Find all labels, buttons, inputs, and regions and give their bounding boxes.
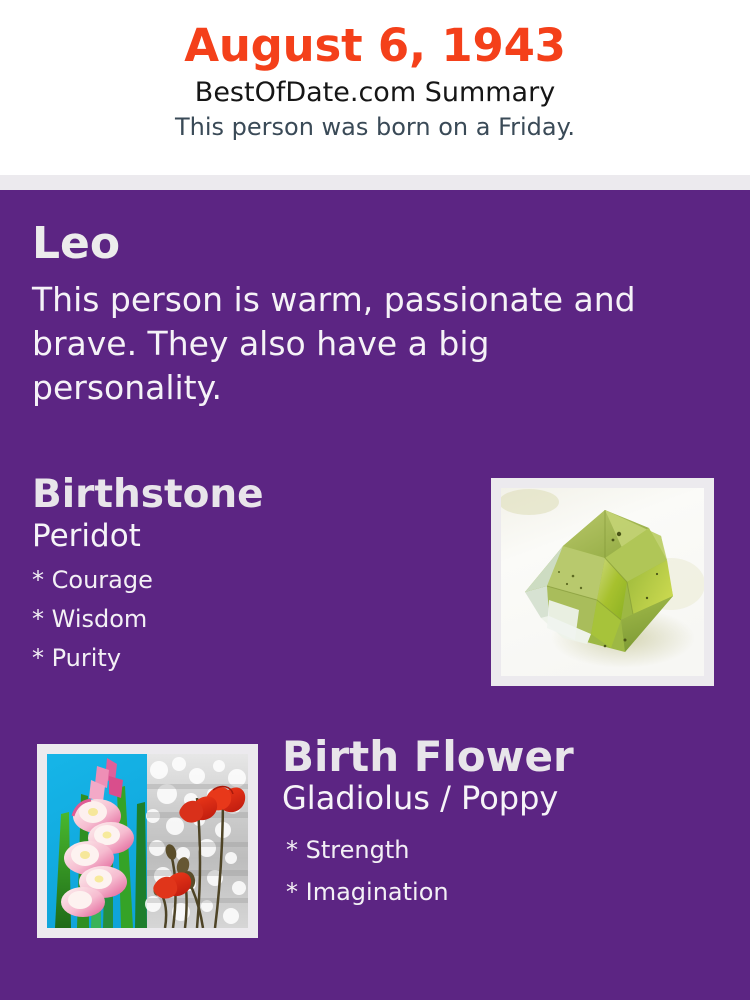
birthstone-image-frame: [491, 478, 714, 686]
gladiolus-poppy-icon: [47, 754, 248, 928]
zodiac-description: This person is warm, passionate and brav…: [32, 266, 682, 410]
zodiac-section: Leo This person is warm, passionate and …: [32, 222, 692, 410]
birth-flower-trait-list: * Strength * Imagination: [282, 816, 732, 913]
birthstone-name: Peridot: [32, 516, 462, 553]
birth-flower-section: Birth Flower Gladiolus / Poppy * Strengt…: [282, 735, 732, 913]
list-item: * Courage: [32, 561, 462, 600]
list-item: * Purity: [32, 639, 462, 678]
day-of-week-note: This person was born on a Friday.: [0, 108, 750, 142]
birth-flower-name: Gladiolus / Poppy: [282, 779, 732, 816]
page-title: August 6, 1943: [0, 0, 750, 71]
date-summary-card: August 6, 1943 BestOfDate.com Summary Th…: [0, 0, 750, 1000]
birthstone-image: [501, 488, 704, 676]
list-item: * Strength: [286, 830, 732, 871]
birthstone-title: Birthstone: [32, 475, 462, 516]
list-item: * Wisdom: [32, 600, 462, 639]
site-name: BestOfDate.com Summary: [0, 71, 750, 108]
birthstone-section: Birthstone Peridot * Courage * Wisdom * …: [32, 475, 462, 678]
birth-flower-image-frame: [37, 744, 258, 938]
card-header: August 6, 1943 BestOfDate.com Summary Th…: [0, 0, 750, 175]
birth-flower-title: Birth Flower: [282, 735, 732, 779]
list-item: * Imagination: [286, 872, 732, 913]
peridot-gem-icon: [501, 488, 704, 676]
zodiac-sign-name: Leo: [32, 222, 692, 266]
birth-flower-image: [47, 754, 248, 928]
header-divider: [0, 175, 750, 190]
birthstone-trait-list: * Courage * Wisdom * Purity: [32, 553, 462, 678]
